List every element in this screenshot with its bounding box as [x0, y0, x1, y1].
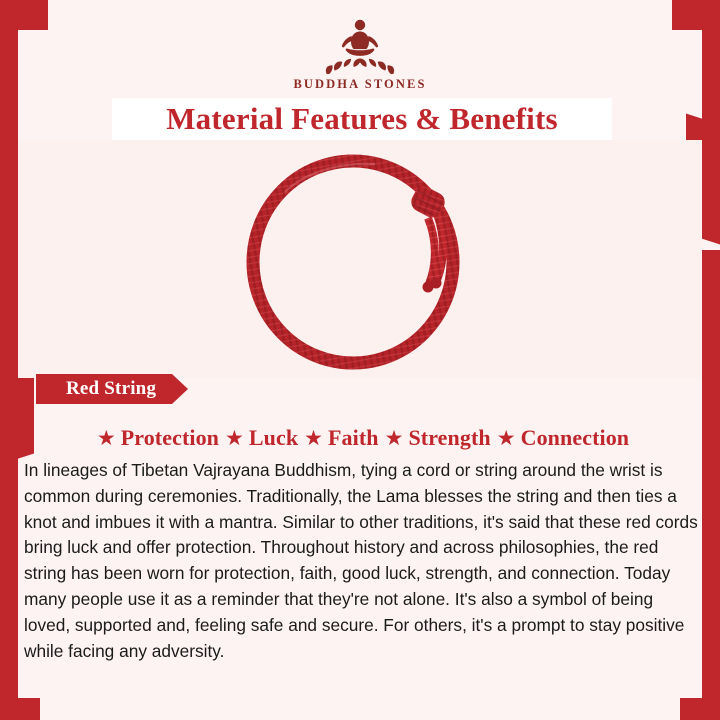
red-braided-string-bracelet: [145, 140, 575, 378]
star-icon: ★: [225, 428, 244, 449]
product-name-ribbon: Red String: [36, 374, 188, 404]
star-icon: ★: [385, 428, 404, 449]
keyword-label: Protection: [121, 425, 219, 451]
star-icon: ★: [97, 428, 116, 449]
keyword-label: Luck: [249, 425, 298, 451]
frame-corner-bottom-right: [680, 698, 720, 720]
star-icon: ★: [497, 428, 516, 449]
frame-bar-right-bottom: [702, 250, 720, 720]
infographic-page: BUDDHA STONES Material Features & Benefi…: [0, 0, 720, 720]
keyword-item-luck: ★ Luck: [219, 425, 298, 451]
keyword-label: Faith: [328, 425, 379, 451]
brand-name: BUDDHA STONES: [293, 77, 426, 92]
keyword-item-protection: ★ Protection: [91, 425, 219, 451]
hero-image-area: [18, 140, 702, 378]
lotus-meditating-buddha-icon: [308, 14, 412, 74]
frame-corner-bottom-left: [0, 698, 40, 720]
keyword-label: Strength: [408, 425, 490, 451]
description-paragraph: In lineages of Tibetan Vajrayana Buddhis…: [24, 458, 698, 664]
star-icon: ★: [304, 428, 323, 449]
page-title: Material Features & Benefits: [166, 101, 558, 137]
keyword-item-faith: ★ Faith: [298, 425, 378, 451]
keyword-label: Connection: [521, 425, 630, 451]
ribbon-body: Red String: [36, 374, 172, 404]
frame-bar-left-bottom: [0, 420, 18, 720]
ribbon-tail: [172, 374, 188, 404]
keyword-list: ★ Protection ★ Luck ★ Faith ★ Strength ★…: [18, 420, 702, 456]
brand-logo: BUDDHA STONES: [0, 14, 720, 92]
title-band: Material Features & Benefits: [112, 98, 612, 140]
product-name: Red String: [66, 378, 156, 400]
keyword-item-strength: ★ Strength: [379, 425, 491, 451]
keyword-item-connection: ★ Connection: [491, 425, 629, 451]
